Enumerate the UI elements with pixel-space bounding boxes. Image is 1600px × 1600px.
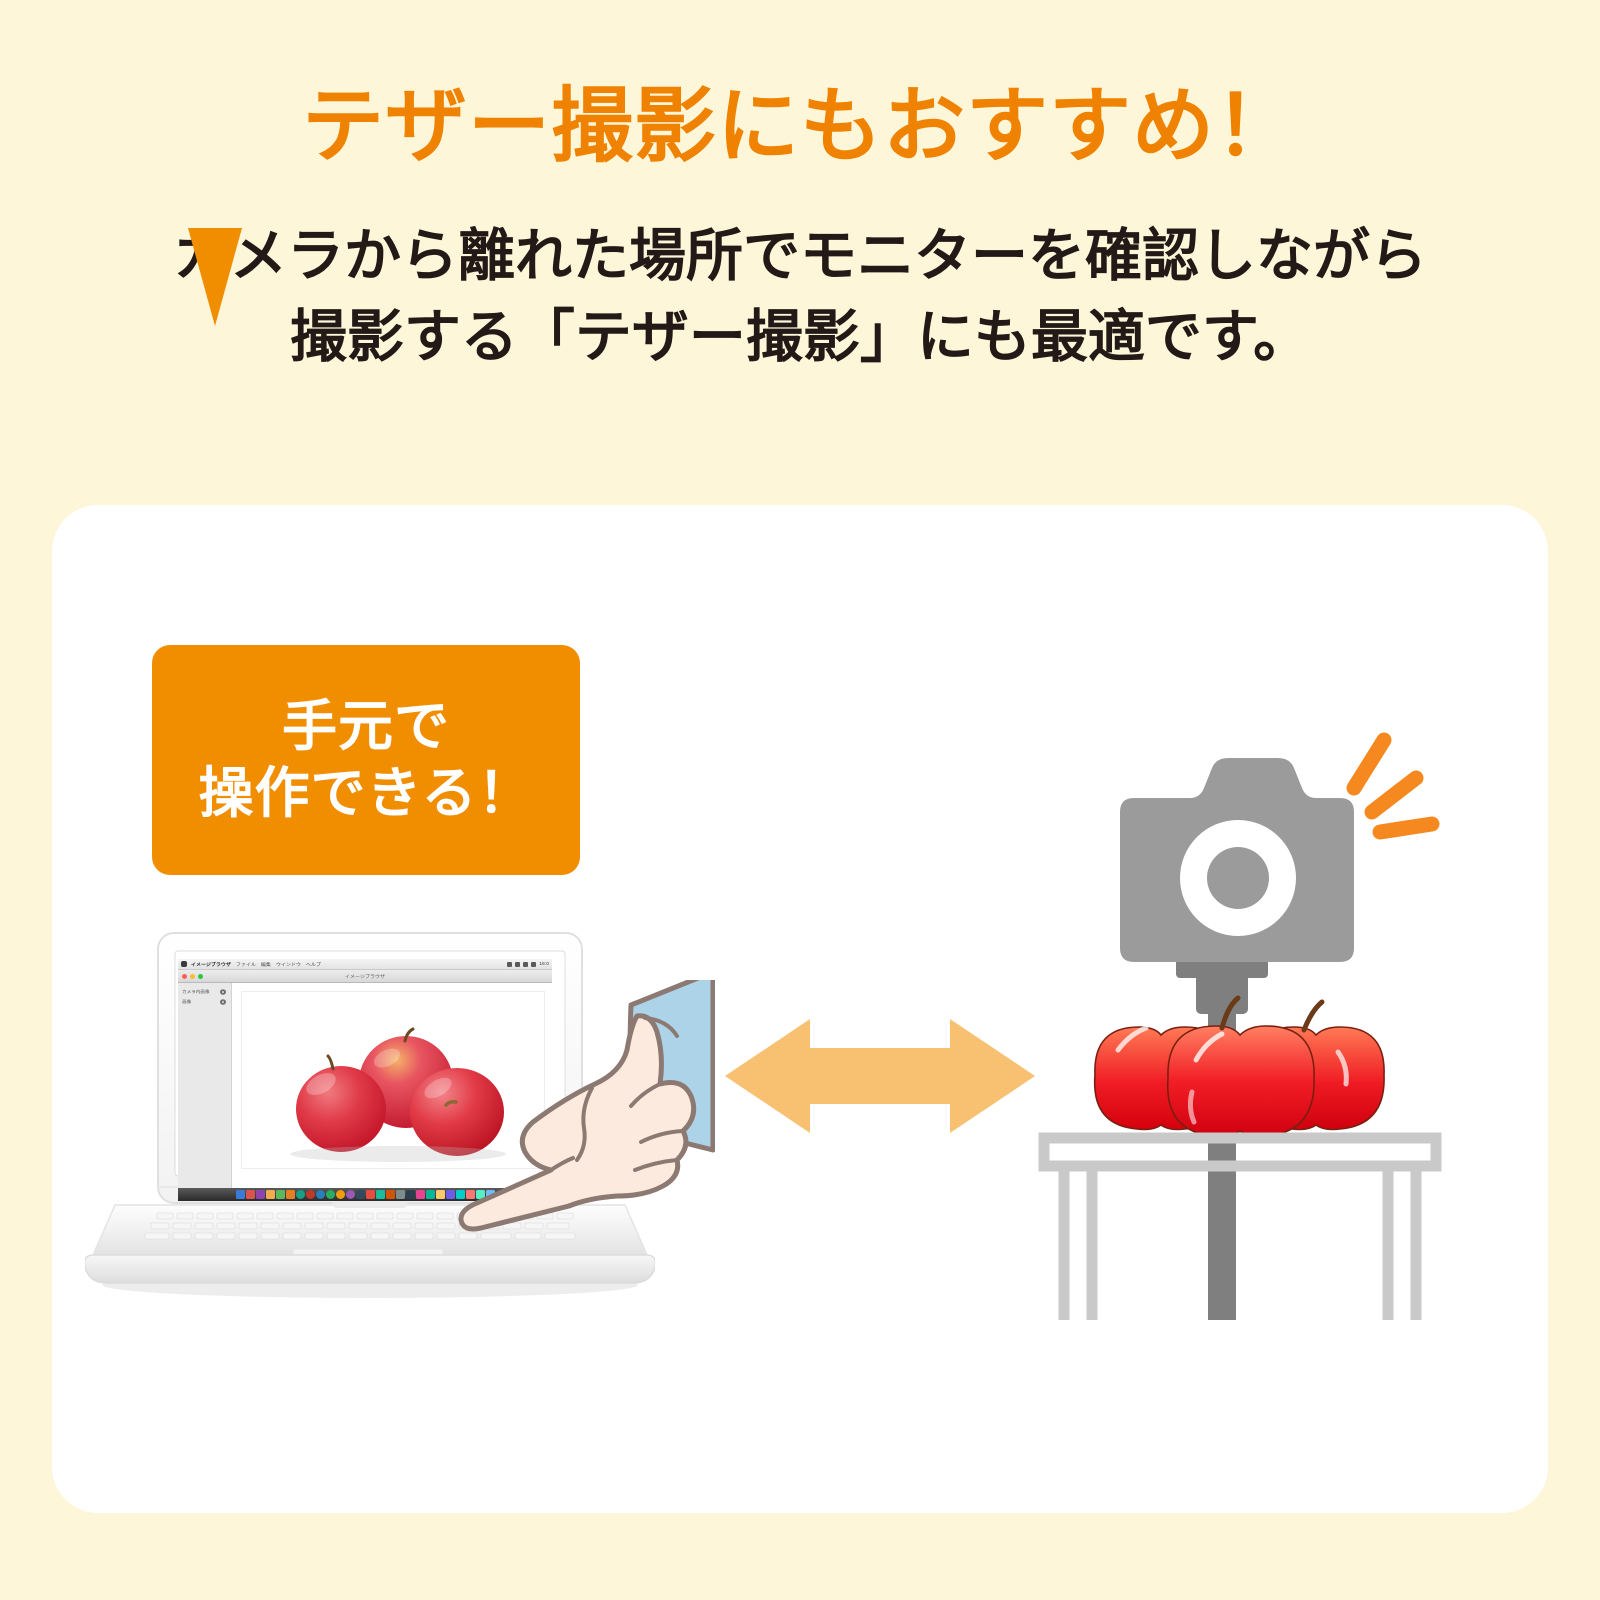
callout-line-2: 操作できる！ [199, 760, 534, 827]
wifi-icon[interactable] [507, 962, 512, 967]
camera-icon [1120, 758, 1354, 962]
search-icon[interactable] [531, 962, 536, 967]
sidebar-item-label: カメラ内画像 [182, 989, 210, 995]
dock-icon[interactable] [396, 1190, 405, 1199]
dock-icon[interactable] [276, 1190, 285, 1199]
dock-icon[interactable] [416, 1190, 425, 1199]
dock-icon[interactable] [266, 1190, 275, 1199]
dock-icon[interactable] [286, 1190, 295, 1199]
dock-icon[interactable] [326, 1190, 335, 1199]
table [1044, 1138, 1436, 1320]
menubar-clock: 16:0 [539, 961, 549, 966]
dock-icon[interactable] [366, 1190, 375, 1199]
dock-icon[interactable] [436, 1190, 445, 1199]
dock-icon[interactable] [306, 1190, 315, 1199]
dock-icon[interactable] [446, 1190, 455, 1199]
apple [1168, 1026, 1314, 1136]
dock-icon[interactable] [426, 1190, 435, 1199]
mac-menubar: イメージブラウザ ファイル 編集 ウインドウ ヘルプ 16:0 [178, 959, 552, 970]
callout-text: 手元で 操作できる！ [152, 645, 580, 875]
dock-icon[interactable] [356, 1190, 365, 1199]
dock-icon[interactable] [256, 1190, 265, 1199]
app-sidebar: カメラ内画像 画像 [178, 983, 232, 1199]
gear-icon[interactable] [220, 989, 226, 995]
dock-icon[interactable] [376, 1190, 385, 1199]
callout-bubble-tail [188, 228, 242, 326]
menubar-item-edit[interactable]: 編集 [261, 961, 271, 967]
dock-icon[interactable] [406, 1190, 415, 1199]
sidebar-item-label: 画像 [182, 999, 191, 1005]
battery-icon[interactable] [515, 962, 520, 967]
dock-icon[interactable] [386, 1190, 395, 1199]
flash-lines-icon [1354, 740, 1432, 832]
volume-icon[interactable] [523, 962, 528, 967]
bidirectional-arrow [725, 1015, 1035, 1137]
menubar-item-window[interactable]: ウインドウ [276, 961, 301, 967]
menubar-item-app[interactable]: イメージブラウザ [191, 961, 231, 967]
dock-icon[interactable] [336, 1190, 345, 1199]
callout-line-1: 手元で [282, 693, 450, 760]
callout-bubble: 手元で 操作できる！ [152, 645, 580, 875]
dock-icon[interactable] [346, 1190, 355, 1199]
menubar-item-file[interactable]: ファイル [236, 961, 256, 967]
apple-stem [1304, 1002, 1322, 1030]
dock-icon[interactable] [246, 1190, 255, 1199]
app-window-title: イメージブラウザ [178, 973, 552, 979]
apples-on-table [1095, 998, 1384, 1136]
dock-icon[interactable] [316, 1190, 325, 1199]
apple-menu-icon[interactable] [181, 961, 187, 967]
gear-icon[interactable] [220, 999, 226, 1005]
camera-rig-illustration [1000, 720, 1480, 1320]
sidebar-item-camera-images[interactable]: カメラ内画像 [178, 987, 231, 996]
page-title: テザー撮影にもおすすめ！ [0, 0, 1600, 168]
dock-icon[interactable] [236, 1190, 245, 1199]
menubar-status-area: 16:0 [507, 961, 549, 967]
dock-icon[interactable] [296, 1190, 305, 1199]
sidebar-item-images[interactable]: 画像 [178, 997, 231, 1006]
menubar-item-help[interactable]: ヘルプ [306, 961, 321, 967]
pointing-hand [455, 980, 715, 1235]
